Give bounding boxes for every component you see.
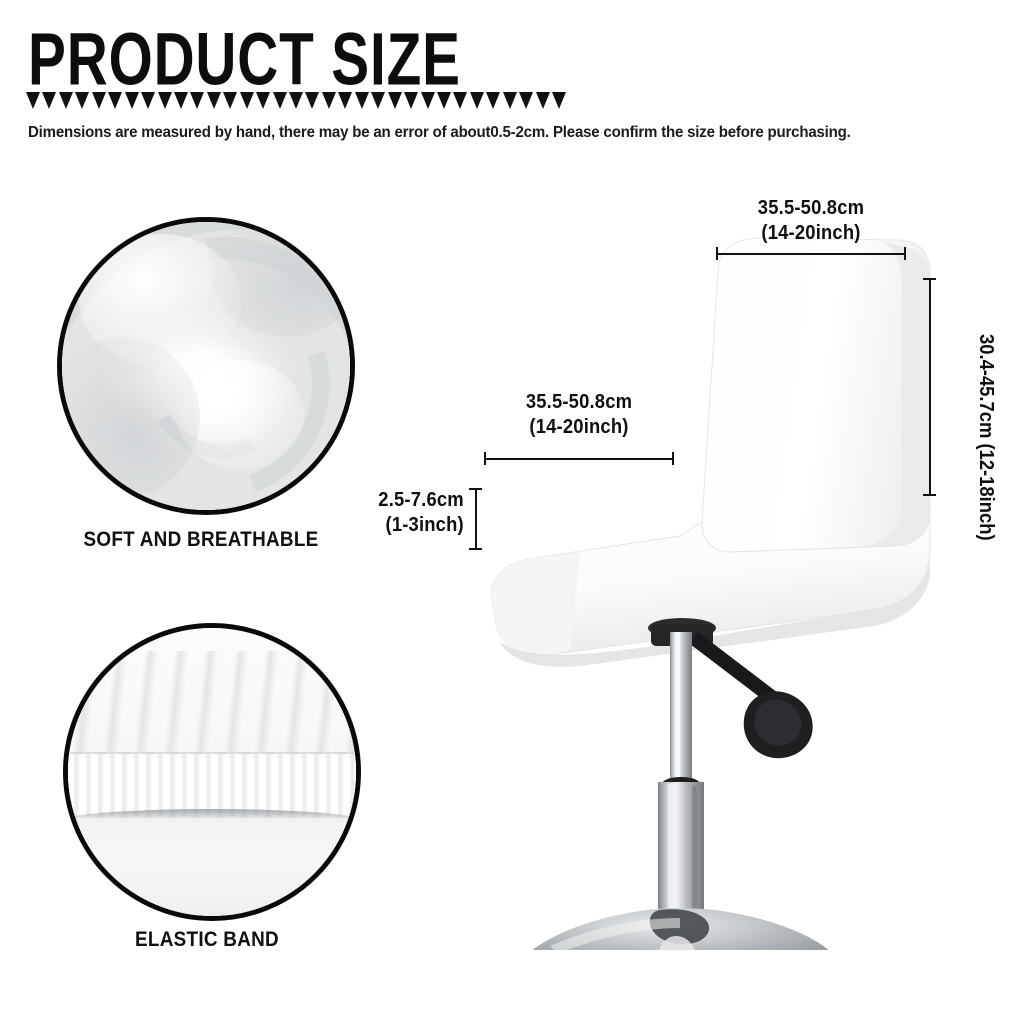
triangle-marker (158, 92, 172, 109)
triangle-marker (256, 92, 270, 109)
dimension-line-backrest-width (716, 247, 906, 260)
triangle-marker (355, 92, 369, 109)
dimension-label-seat-thickness: 2.5-7.6cm (1-3inch) (368, 488, 464, 538)
triangle-marker (453, 92, 467, 109)
feature-caption-elastic-band: ELASTIC BAND (77, 928, 336, 952)
column-highlight (675, 632, 680, 782)
triangle-divider (26, 92, 566, 112)
triangle-marker (92, 92, 106, 109)
product-illustration (430, 180, 990, 950)
backrest-height-cm: 30.4-45.7cm (975, 334, 997, 438)
triangle-marker (289, 92, 303, 109)
chair-svg (430, 180, 990, 950)
triangle-marker (125, 92, 139, 109)
dimension-line-seat-thickness (469, 488, 482, 550)
backrest-height-inch: (12-18inch) (975, 443, 997, 540)
feature-image-soft-and-breathable (57, 217, 355, 515)
chair-backrest (702, 238, 930, 552)
sleeve-highlight (668, 784, 676, 912)
triangle-marker (108, 92, 122, 109)
dimension-label-backrest-width: 35.5-50.8cm (14-20inch) (724, 196, 899, 246)
triangle-marker (470, 92, 484, 109)
dimension-line-seat-depth (484, 452, 674, 465)
feature-caption-soft-and-breathable: SOFT AND BREATHABLE (71, 528, 330, 552)
measurement-disclaimer: Dimensions are measured by hand, there m… (28, 124, 851, 142)
triangle-marker (207, 92, 221, 109)
triangle-marker (536, 92, 550, 109)
fabric-underside (68, 818, 356, 916)
page-title: PRODUCT SIZE (28, 24, 461, 93)
triangle-marker (42, 92, 56, 109)
seat-depth-inch: (14-20inch) (492, 415, 667, 440)
triangle-marker (338, 92, 352, 109)
fabric-swirl-texture (62, 222, 350, 510)
triangle-marker (552, 92, 566, 109)
elastic-gathering (63, 752, 361, 817)
elastic-band-texture (68, 628, 356, 916)
chair-column-upper (670, 632, 692, 782)
triangle-marker (437, 92, 451, 109)
triangle-marker (404, 92, 418, 109)
triangle-marker (371, 92, 385, 109)
triangle-marker (75, 92, 89, 109)
triangle-marker (388, 92, 402, 109)
seat-depth-cm: 35.5-50.8cm (526, 391, 632, 413)
triangle-marker (59, 92, 73, 109)
triangle-marker (26, 92, 40, 109)
triangle-marker (141, 92, 155, 109)
fabric-folds (68, 651, 356, 760)
triangle-marker (305, 92, 319, 109)
triangle-marker (190, 92, 204, 109)
feature-image-elastic-band (63, 623, 361, 921)
seat-thickness-cm: 2.5-7.6cm (378, 489, 464, 511)
backrest-width-inch: (14-20inch) (724, 221, 899, 246)
product-size-infographic: PRODUCT SIZE Dimensions are measured by … (0, 0, 1024, 1024)
dimension-label-backrest-height: 30.4-45.7cm (12-18inch) (973, 334, 998, 541)
triangle-marker (223, 92, 237, 109)
sleeve-shadow (692, 786, 697, 910)
seat-front-edge (491, 552, 580, 655)
triangle-marker (240, 92, 254, 109)
triangle-marker (519, 92, 533, 109)
chair-column-lower (658, 782, 704, 914)
triangle-marker (421, 92, 435, 109)
triangle-marker (486, 92, 500, 109)
dimension-label-seat-depth: 35.5-50.8cm (14-20inch) (492, 390, 667, 440)
backrest-width-cm: 35.5-50.8cm (758, 197, 864, 219)
triangle-marker (322, 92, 336, 109)
triangle-marker (174, 92, 188, 109)
triangle-marker (503, 92, 517, 109)
seat-thickness-inch: (1-3inch) (368, 513, 464, 538)
triangle-marker (273, 92, 287, 109)
dimension-line-backrest-height (923, 278, 936, 496)
